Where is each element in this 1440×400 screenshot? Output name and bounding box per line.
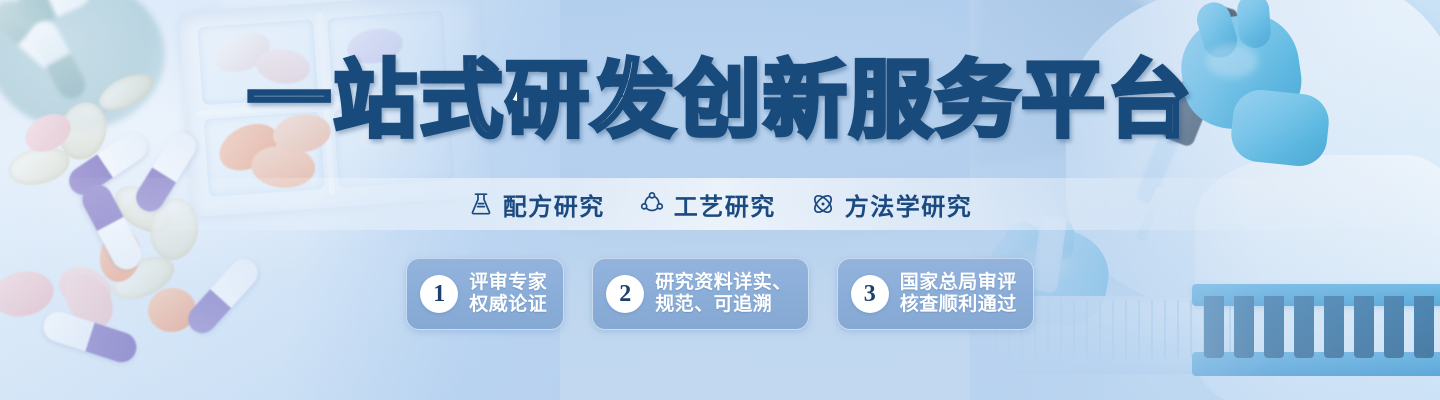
feature-number: 2 (606, 275, 644, 313)
feature-card-1[interactable]: 1 评审专家 权威论证 (406, 258, 564, 330)
molecule-icon (639, 191, 665, 217)
feature-text: 研究资料详实、 规范、可追溯 (655, 272, 792, 317)
promo-banner: 一站式研发创新服务平台 配方研究 (0, 0, 1440, 400)
feature-number: 1 (420, 275, 458, 313)
service-label: 工艺研究 (674, 187, 776, 222)
feature-text: 国家总局审评 核查顺利通过 (900, 272, 1017, 317)
service-item-formulation[interactable]: 配方研究 (468, 187, 605, 222)
feature-line-2: 规范、可追溯 (655, 294, 772, 315)
service-label: 方法学研究 (845, 187, 973, 222)
feature-number: 3 (851, 275, 889, 313)
service-list: 配方研究 工艺研究 (0, 178, 1440, 230)
service-item-methodology[interactable]: 方法学研究 (810, 187, 973, 222)
feature-line-1: 国家总局审评 (900, 272, 1017, 293)
feature-text: 评审专家 权威论证 (469, 272, 547, 317)
feature-line-1: 评审专家 (469, 272, 547, 293)
feature-card-2[interactable]: 2 研究资料详实、 规范、可追溯 (592, 258, 809, 330)
flask-icon (468, 191, 494, 217)
feature-line-2: 权威论证 (469, 294, 547, 315)
banner-title-area: 一站式研发创新服务平台 (0, 58, 1440, 144)
atom-icon (810, 191, 836, 217)
feature-line-1: 研究资料详实、 (655, 272, 792, 293)
banner-title: 一站式研发创新服务平台 (247, 58, 1193, 144)
service-item-process[interactable]: 工艺研究 (639, 187, 776, 222)
service-label: 配方研究 (503, 187, 605, 222)
feature-card-list: 1 评审专家 权威论证 2 研究资料详实、 规范、可追溯 3 国家总局审评 核查… (0, 258, 1440, 330)
feature-line-2: 核查顺利通过 (900, 294, 1017, 315)
feature-card-3[interactable]: 3 国家总局审评 核查顺利通过 (837, 258, 1034, 330)
